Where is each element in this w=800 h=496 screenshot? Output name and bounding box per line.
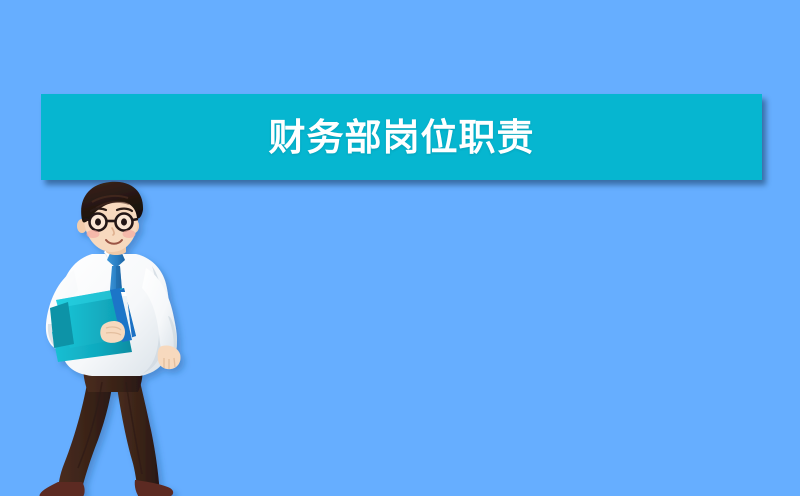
businessman-illustration	[28, 196, 218, 496]
folders	[50, 288, 136, 362]
page-title: 财务部岗位职责	[269, 119, 535, 156]
left-hand	[100, 321, 125, 343]
figure-body	[39, 182, 180, 496]
slide-canvas: 财务部岗位职责	[0, 0, 800, 496]
right-hand	[158, 345, 181, 369]
trousers	[58, 358, 160, 496]
head	[77, 182, 143, 252]
title-banner: 财务部岗位职责	[41, 94, 762, 180]
